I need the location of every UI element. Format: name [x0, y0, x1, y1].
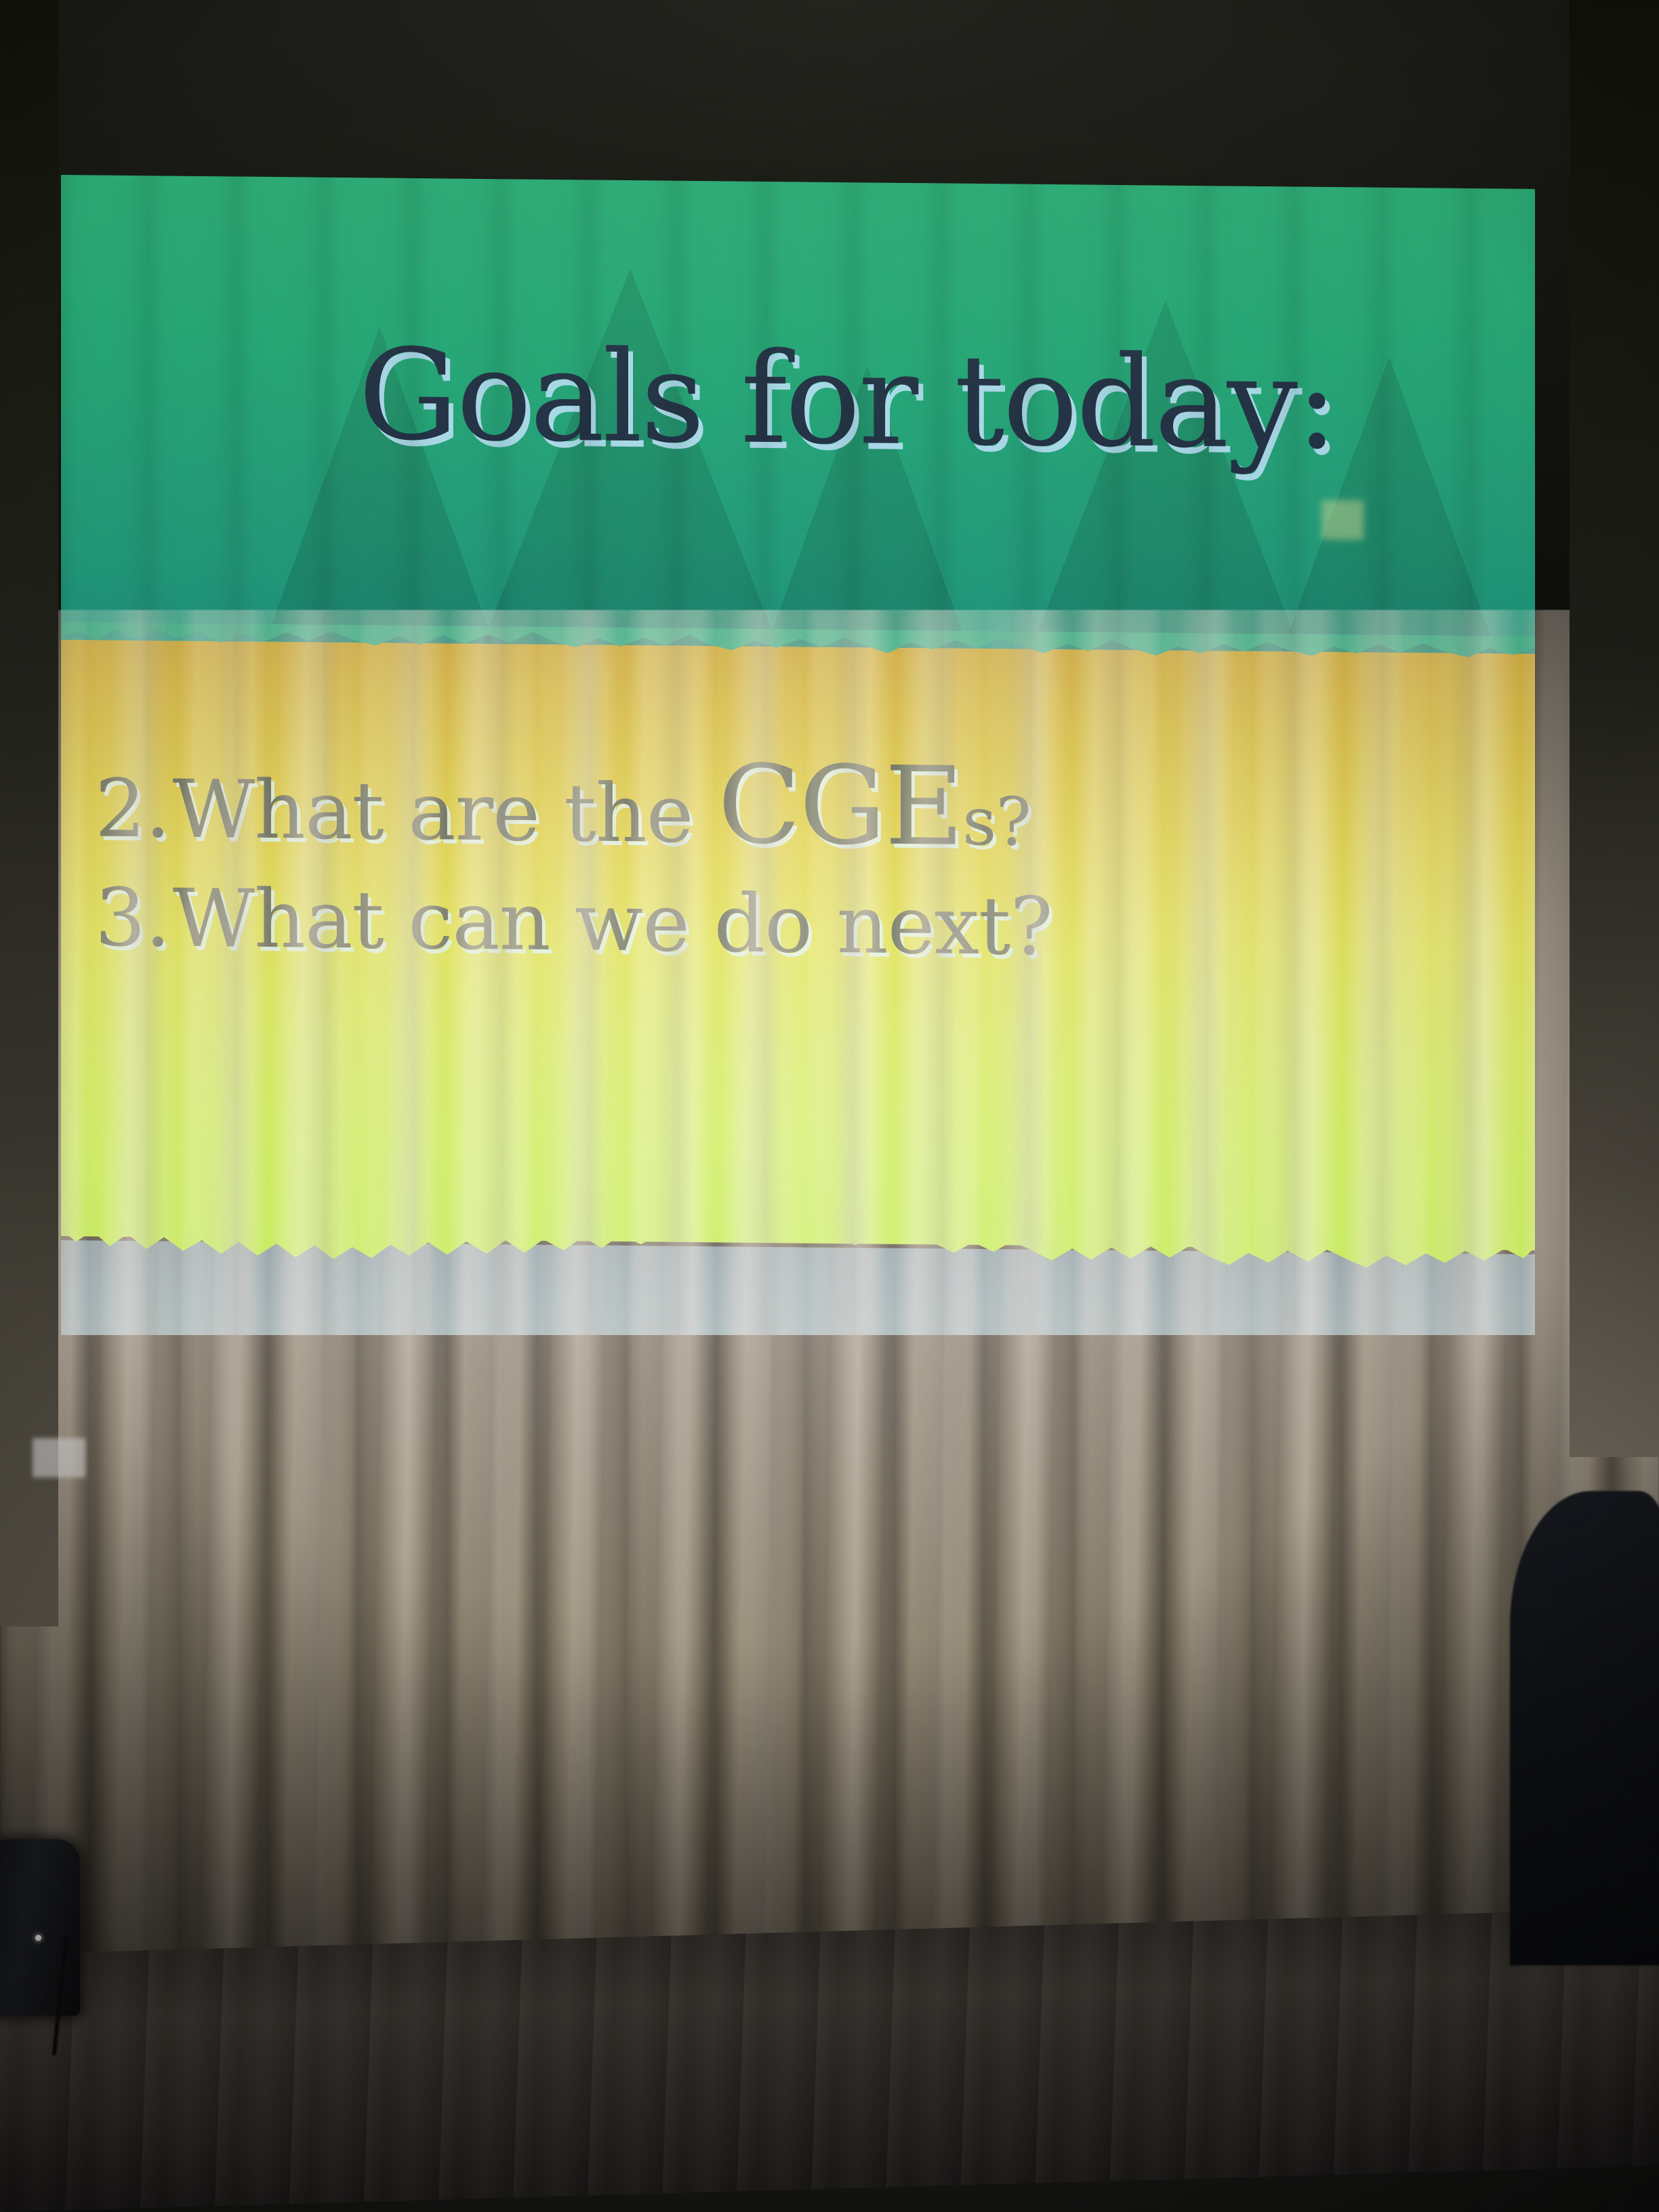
bullet-2-text-part-1: What are the	[173, 762, 718, 861]
wall-left	[0, 0, 58, 1626]
bullet-3-number: 3.	[95, 870, 170, 964]
wall-right	[1570, 0, 1659, 1457]
curtain-patch-left	[33, 1438, 85, 1477]
projector-hotspot	[1322, 500, 1364, 540]
slide-title: Goals for today:	[230, 331, 1464, 468]
bullet-3-text: What can we do next?	[173, 872, 1052, 973]
slide-bullet-2: 2. What are the CGEs?	[95, 744, 1504, 866]
bullet-2-text-part-3: s?	[962, 783, 1031, 861]
person-silhouette	[1510, 1491, 1659, 1965]
speaker-power-led	[35, 1935, 41, 1941]
slide-bullet-list: 2. What are the CGEs? 3. What can we do …	[95, 744, 1504, 995]
slide-bullet-3: 3. What can we do next?	[95, 877, 1504, 970]
photo-scene: Goals for today: 2. What are the CGEs? 3…	[0, 0, 1659, 2212]
bullet-2-number: 2.	[95, 761, 170, 855]
stage-floor	[0, 1908, 1659, 2212]
pa-speaker	[0, 1839, 80, 2015]
projected-slide: Goals for today: 2. What are the CGEs? 3…	[61, 175, 1535, 1335]
bullet-2-acronym: CGE	[718, 741, 962, 869]
